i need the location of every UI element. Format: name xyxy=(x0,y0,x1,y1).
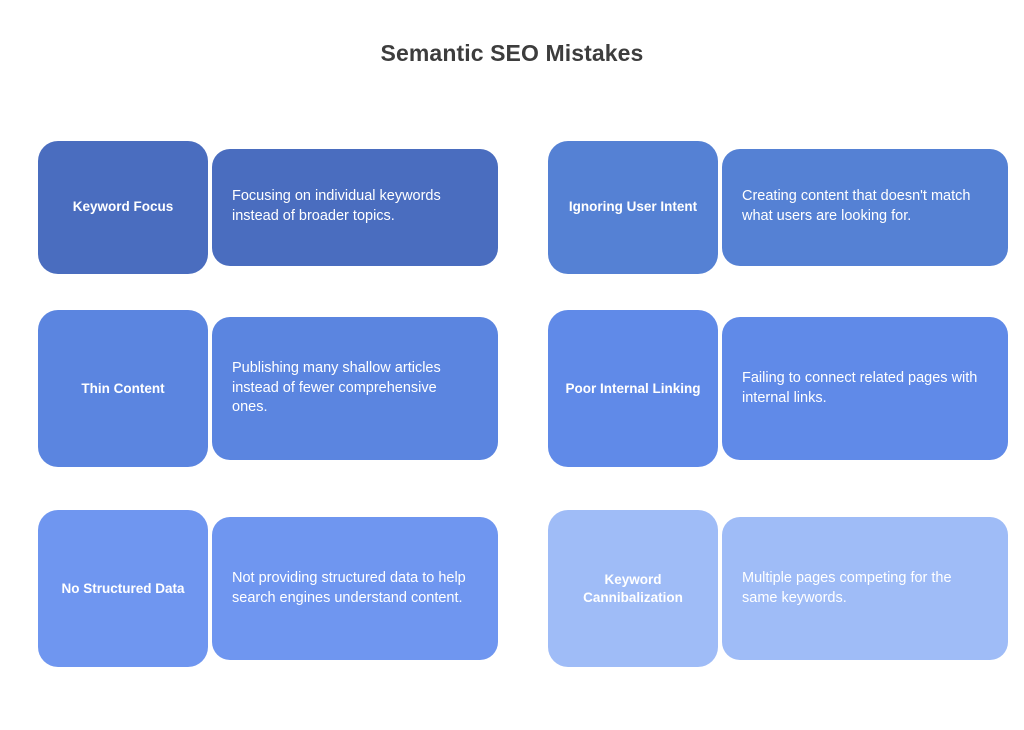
card-description-panel[interactable]: Creating content that doesn't match what… xyxy=(722,149,1008,266)
card-description-text: Not providing structured data to help se… xyxy=(232,569,476,608)
card-label-panel[interactable]: Ignoring User Intent xyxy=(548,141,718,274)
card-label-text: Keyword Focus xyxy=(73,198,174,215)
card-description-panel[interactable]: Multiple pages competing for the same ke… xyxy=(722,517,1008,660)
card-grid: Keyword Focus Focusing on individual key… xyxy=(38,133,1008,681)
card-description-text: Failing to connect related pages with in… xyxy=(742,369,986,408)
card-label-text: Keyword Cannibalization xyxy=(560,571,706,606)
card-label-panel[interactable]: Poor Internal Linking xyxy=(548,310,718,467)
card-description-text: Creating content that doesn't match what… xyxy=(742,187,986,226)
card-label-text: No Structured Data xyxy=(61,580,184,597)
card-label-panel[interactable]: Keyword Cannibalization xyxy=(548,510,718,667)
card-row: Keyword Focus Focusing on individual key… xyxy=(38,133,1008,281)
card-keyword-cannibalization[interactable]: Keyword Cannibalization Multiple pages c… xyxy=(548,496,1008,681)
card-description-text: Focusing on individual keywords instead … xyxy=(232,187,476,226)
card-description-panel[interactable]: Failing to connect related pages with in… xyxy=(722,317,1008,460)
card-description-panel[interactable]: Not providing structured data to help se… xyxy=(212,517,498,660)
card-label-text: Ignoring User Intent xyxy=(569,198,697,215)
card-poor-internal-linking[interactable]: Poor Internal Linking Failing to connect… xyxy=(548,281,1008,496)
card-description-panel[interactable]: Publishing many shallow articles instead… xyxy=(212,317,498,460)
card-label-panel[interactable]: No Structured Data xyxy=(38,510,208,667)
card-keyword-focus[interactable]: Keyword Focus Focusing on individual key… xyxy=(38,133,498,281)
card-label-text: Thin Content xyxy=(81,380,164,397)
card-row: Thin Content Publishing many shallow art… xyxy=(38,281,1008,496)
card-label-panel[interactable]: Thin Content xyxy=(38,310,208,467)
card-no-structured-data[interactable]: No Structured Data Not providing structu… xyxy=(38,496,498,681)
card-row: No Structured Data Not providing structu… xyxy=(38,496,1008,681)
card-label-panel[interactable]: Keyword Focus xyxy=(38,141,208,274)
card-ignoring-user-intent[interactable]: Ignoring User Intent Creating content th… xyxy=(548,133,1008,281)
card-label-text: Poor Internal Linking xyxy=(565,380,700,397)
card-description-text: Multiple pages competing for the same ke… xyxy=(742,569,986,608)
page-title: Semantic SEO Mistakes xyxy=(0,40,1024,67)
card-description-panel[interactable]: Focusing on individual keywords instead … xyxy=(212,149,498,266)
card-description-text: Publishing many shallow articles instead… xyxy=(232,359,476,418)
card-thin-content[interactable]: Thin Content Publishing many shallow art… xyxy=(38,281,498,496)
